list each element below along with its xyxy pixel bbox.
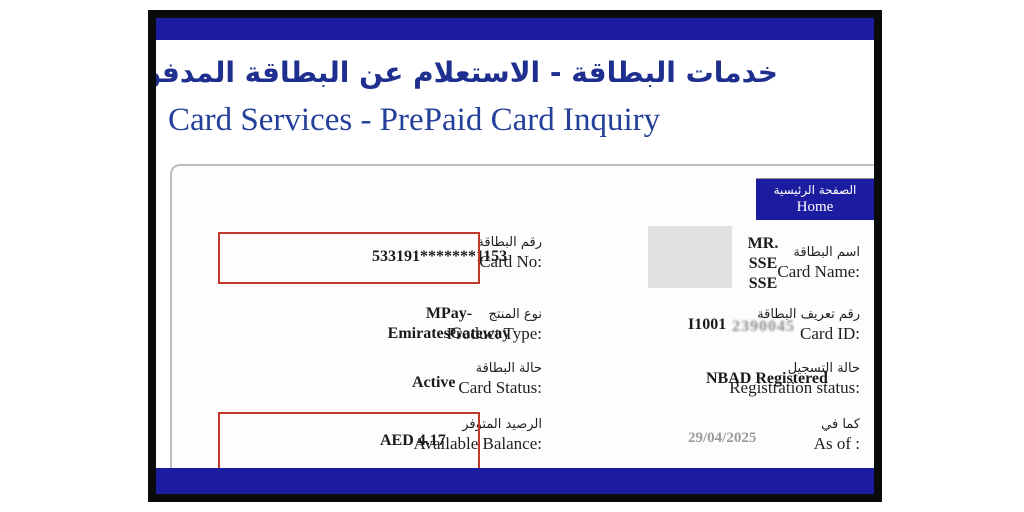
field-registration-status-value: NBAD Registered	[706, 370, 828, 388]
field-as-of: كما في As of : 29/04/2025	[510, 416, 860, 468]
field-product-type-value: MPay-EmiratesGateway	[374, 304, 524, 344]
card-details-grid: رقم البطاقة Card No: 533191*******1153 ا…	[170, 164, 874, 468]
field-card-status-value: Active	[412, 374, 456, 392]
top-brand-band	[156, 18, 874, 40]
field-card-id: رقم تعريف البطاقة Card ID: I1001 2390045	[510, 306, 860, 354]
field-registration-status: حالة التسجيل Registration status: NBAD R…	[470, 360, 860, 408]
highlight-card-no	[218, 232, 480, 284]
screenshot-canvas: خدمات البطاقة - الاستعلام عن البطاقة الم…	[0, 0, 1024, 512]
page-title-arabic: خدمات البطاقة - الاستعلام عن البطاقة الم…	[156, 56, 778, 89]
page-canvas: خدمات البطاقة - الاستعلام عن البطاقة الم…	[156, 18, 874, 494]
field-card-id-value-redacted: 2390045	[732, 318, 795, 336]
bottom-brand-band	[156, 468, 874, 494]
card-name-redaction-box	[648, 226, 732, 288]
field-as-of-value: 29/04/2025	[688, 430, 756, 447]
page-title-english: Card Services - PrePaid Card Inquiry	[168, 102, 660, 139]
field-card-id-value: I1001	[688, 316, 726, 334]
screenshot-black-frame: خدمات البطاقة - الاستعلام عن البطاقة الم…	[148, 10, 882, 502]
page-header: خدمات البطاقة - الاستعلام عن البطاقة الم…	[156, 40, 874, 164]
field-product-type: نوع المنتج Product Type: MPay-EmiratesGa…	[212, 306, 542, 354]
